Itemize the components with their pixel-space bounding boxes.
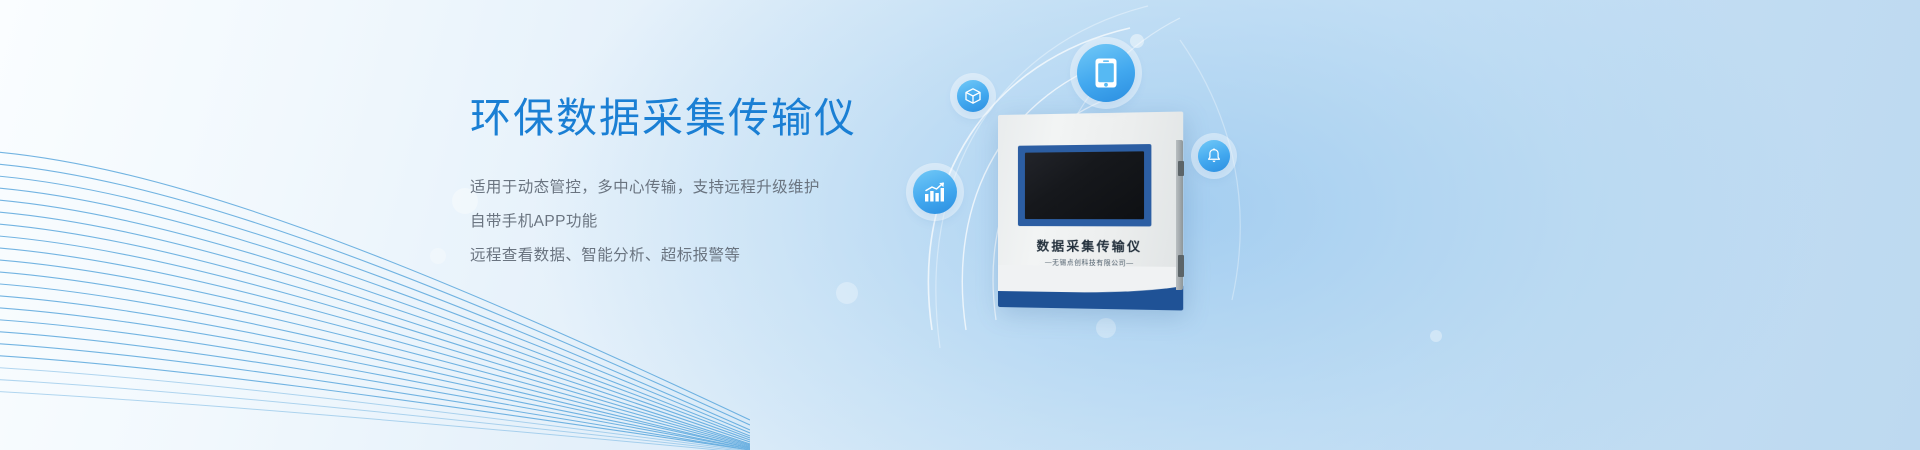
page-title: 环保数据采集传输仪	[470, 92, 940, 144]
product-banner: 环保数据采集传输仪 适用于动态管控，多中心传输，支持远程升级维护 自带手机APP…	[0, 0, 1920, 450]
device-footer-band	[998, 277, 1183, 311]
product-visual: 数据采集传输仪 —无锡点创科技有限公司—	[880, 0, 1560, 450]
device-port	[1178, 255, 1184, 277]
device-screen	[1025, 151, 1144, 219]
alarm-bell-icon[interactable]	[1198, 140, 1230, 172]
banner-copy-block: 环保数据采集传输仪 适用于动态管控，多中心传输，支持远程升级维护 自带手机APP…	[470, 92, 940, 273]
bar-chart-trend-icon[interactable]	[913, 170, 957, 214]
bokeh-circle	[836, 282, 858, 304]
device-body: 数据采集传输仪 —无锡点创科技有限公司—	[998, 111, 1183, 310]
data-acquisition-device: 数据采集传输仪 —无锡点创科技有限公司—	[998, 115, 1178, 307]
feature-list-item: 远程查看数据、智能分析、超标报警等	[470, 239, 940, 273]
device-label: 数据采集传输仪	[998, 235, 1183, 256]
feature-list-item: 适用于动态管控，多中心传输，支持远程升级维护	[470, 171, 940, 205]
box-package-icon[interactable]	[957, 80, 989, 112]
mobile-phone-icon[interactable]	[1077, 44, 1135, 102]
device-screen-bezel	[1018, 144, 1151, 226]
feature-list: 适用于动态管控，多中心传输，支持远程升级维护 自带手机APP功能 远程查看数据、…	[470, 171, 940, 272]
feature-list-item: 自带手机APP功能	[470, 205, 940, 239]
device-port	[1178, 161, 1184, 176]
orbit-arcs-decoration	[880, 0, 1560, 450]
bokeh-circle	[430, 248, 446, 264]
